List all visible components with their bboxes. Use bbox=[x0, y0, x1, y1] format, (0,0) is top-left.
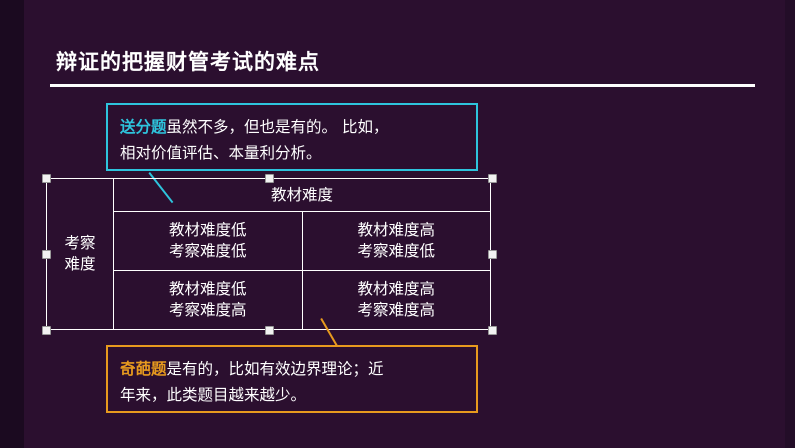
callout-bottom-keyword: 奇葩题 bbox=[120, 360, 167, 378]
callout-bottom-line1-rest: 是有的，比如有效边界理论；近 bbox=[167, 360, 384, 378]
title-divider bbox=[50, 84, 755, 87]
cell-low-high-line1: 教材难度低 bbox=[114, 279, 302, 300]
callout-bottom-line1: 奇葩题是有的，比如有效边界理论；近 bbox=[120, 356, 466, 382]
difficulty-matrix-table[interactable]: 考察 难度 教材难度 教材难度低 考察难度低 教材难度高 考察难度低 教材难度低 bbox=[46, 178, 491, 330]
callout-bottom-box: 奇葩题是有的，比如有效边界理论；近 年来，此类题目越来越少。 bbox=[106, 345, 478, 413]
cell-low-low: 教材难度低 考察难度低 bbox=[114, 212, 303, 271]
callout-bottom-line2: 年来，此类题目越来越少。 bbox=[120, 382, 466, 408]
resize-handle-top-left[interactable] bbox=[42, 174, 51, 183]
cell-low-low-line1: 教材难度低 bbox=[114, 220, 302, 241]
row-header-cell: 考察 难度 bbox=[47, 179, 114, 330]
left-decorative-band bbox=[0, 0, 24, 448]
cell-low-high-line2: 考察难度高 bbox=[114, 300, 302, 321]
table-row: 教材难度低 考察难度高 教材难度高 考察难度高 bbox=[47, 271, 491, 330]
resize-handle-bottom-left[interactable] bbox=[42, 326, 51, 335]
column-header-cell: 教材难度 bbox=[114, 179, 491, 212]
table-row: 教材难度低 考察难度低 教材难度高 考察难度低 bbox=[47, 212, 491, 271]
row-header-line2: 难度 bbox=[47, 254, 113, 275]
callout-top-line2: 相对价值评估、本量利分析。 bbox=[120, 140, 466, 166]
cell-low-high: 教材难度低 考察难度高 bbox=[114, 271, 303, 330]
callout-top-box: 送分题虽然不多，但也是有的。 比如， 相对价值评估、本量利分析。 bbox=[106, 103, 478, 171]
resize-handle-middle-left[interactable] bbox=[42, 250, 51, 259]
cell-high-low-line1: 教材难度高 bbox=[303, 220, 491, 241]
resize-handle-middle-right[interactable] bbox=[488, 250, 497, 259]
resize-handle-bottom-right[interactable] bbox=[488, 326, 497, 335]
right-decorative-band bbox=[785, 0, 795, 448]
cell-high-low: 教材难度高 考察难度低 bbox=[302, 212, 491, 271]
cell-high-high-line1: 教材难度高 bbox=[303, 279, 491, 300]
cell-high-high-line2: 考察难度高 bbox=[303, 300, 491, 321]
callout-top-keyword: 送分题 bbox=[120, 118, 167, 136]
cell-high-low-line2: 考察难度低 bbox=[303, 241, 491, 262]
page-title: 辩证的把握财管考试的难点 bbox=[56, 46, 320, 76]
table-row: 考察 难度 教材难度 bbox=[47, 179, 491, 212]
resize-handle-bottom-center[interactable] bbox=[265, 326, 274, 335]
cell-low-low-line2: 考察难度低 bbox=[114, 241, 302, 262]
slide-canvas: 辩证的把握财管考试的难点 送分题虽然不多，但也是有的。 比如， 相对价值评估、本… bbox=[0, 0, 795, 448]
callout-top-line1-rest: 虽然不多，但也是有的。 比如， bbox=[167, 118, 389, 136]
callout-top-line1: 送分题虽然不多，但也是有的。 比如， bbox=[120, 114, 466, 140]
row-header-line1: 考察 bbox=[47, 233, 113, 254]
resize-handle-top-right[interactable] bbox=[488, 174, 497, 183]
resize-handle-top-center[interactable] bbox=[265, 174, 274, 183]
cell-high-high: 教材难度高 考察难度高 bbox=[302, 271, 491, 330]
